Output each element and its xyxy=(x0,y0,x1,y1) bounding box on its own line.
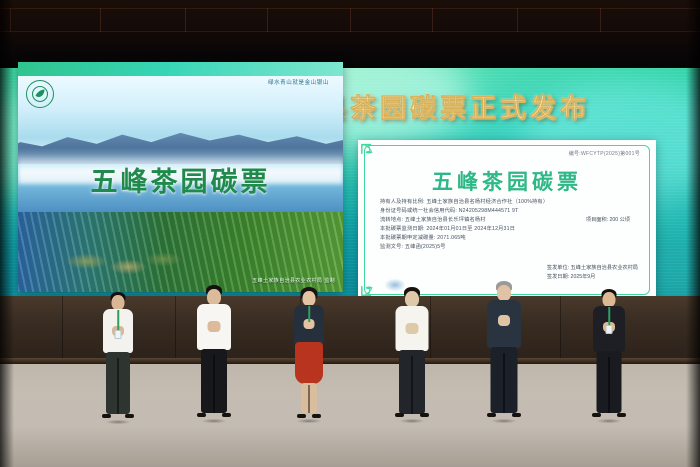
left-vignette xyxy=(0,0,14,467)
project-area-value: 项目面积: 200 公顷 xyxy=(586,216,630,223)
right-vignette xyxy=(686,0,700,467)
event-poster: 绿水青山就是金山银山 五峰茶园碳票 五峰土家族自治县农业农村局 监制 xyxy=(18,62,343,292)
person-4 xyxy=(390,287,434,421)
person-3 xyxy=(288,287,330,421)
issuer-line: 签发单位: 五峰土家族自治县农业农村局 xyxy=(547,264,638,273)
tea-plantation-photo: 五峰土家族自治县农业农村局 监制 xyxy=(18,212,343,292)
detail-line-amount: 本批碳票期申定减碳量: 2071.065吨 xyxy=(380,234,640,243)
certificate-number: 编号:WFCYTP(2025)第001号 xyxy=(569,150,640,157)
detail-line-docno: 监测文号: 五峰函(2025)5号 xyxy=(380,243,640,252)
person-2 xyxy=(192,285,236,421)
person-6 xyxy=(588,289,630,421)
issue-date-line: 签发日期: 2025年9月 xyxy=(547,273,638,282)
detail-line-id: 身份证号码或统一社会信用代码: N24205298M444571 9T xyxy=(380,207,640,216)
poster-credit: 五峰土家族自治县农业农村局 监制 xyxy=(252,277,335,284)
person-1 xyxy=(98,292,138,422)
detail-line-holder: 持有人及持有比例: 五峰土家族自治县名杨村经济合作社（100%持有） xyxy=(380,198,640,207)
poster-top-band xyxy=(18,62,343,76)
event-photo: 五峰土家族自治县茶园碳票正式发布 绿水青山就是金山银山 五峰茶园碳票 五峰土家族… xyxy=(0,0,700,467)
certificate-title: 五峰茶园碳票 xyxy=(358,166,656,196)
poster-title: 五峰茶园碳票 xyxy=(18,160,343,199)
detail-line-period: 本批碳票监测日期: 2024年01月01日至 2024年12月31日 xyxy=(380,225,640,234)
foreground-foliage xyxy=(44,242,226,288)
carbon-ticket-certificate: 编号:WFCYTP(2025)第001号 五峰茶园碳票 持有人及持有比例: 五峰… xyxy=(358,140,656,300)
certificate-details: 持有人及持有比例: 五峰土家族自治县名杨村经济合作社（100%持有） 身份证号码… xyxy=(380,198,640,252)
leaf-seal-icon xyxy=(26,80,54,108)
poster-tagline: 绿水青山就是金山银山 xyxy=(268,78,329,86)
certificate-signature-block: 签发单位: 五峰土家族自治县农业农村局 签发日期: 2025年9月 xyxy=(547,264,638,282)
tea-leaf-ornament-icon xyxy=(360,141,382,163)
person-5 xyxy=(482,281,526,421)
poster-sky xyxy=(18,76,343,164)
